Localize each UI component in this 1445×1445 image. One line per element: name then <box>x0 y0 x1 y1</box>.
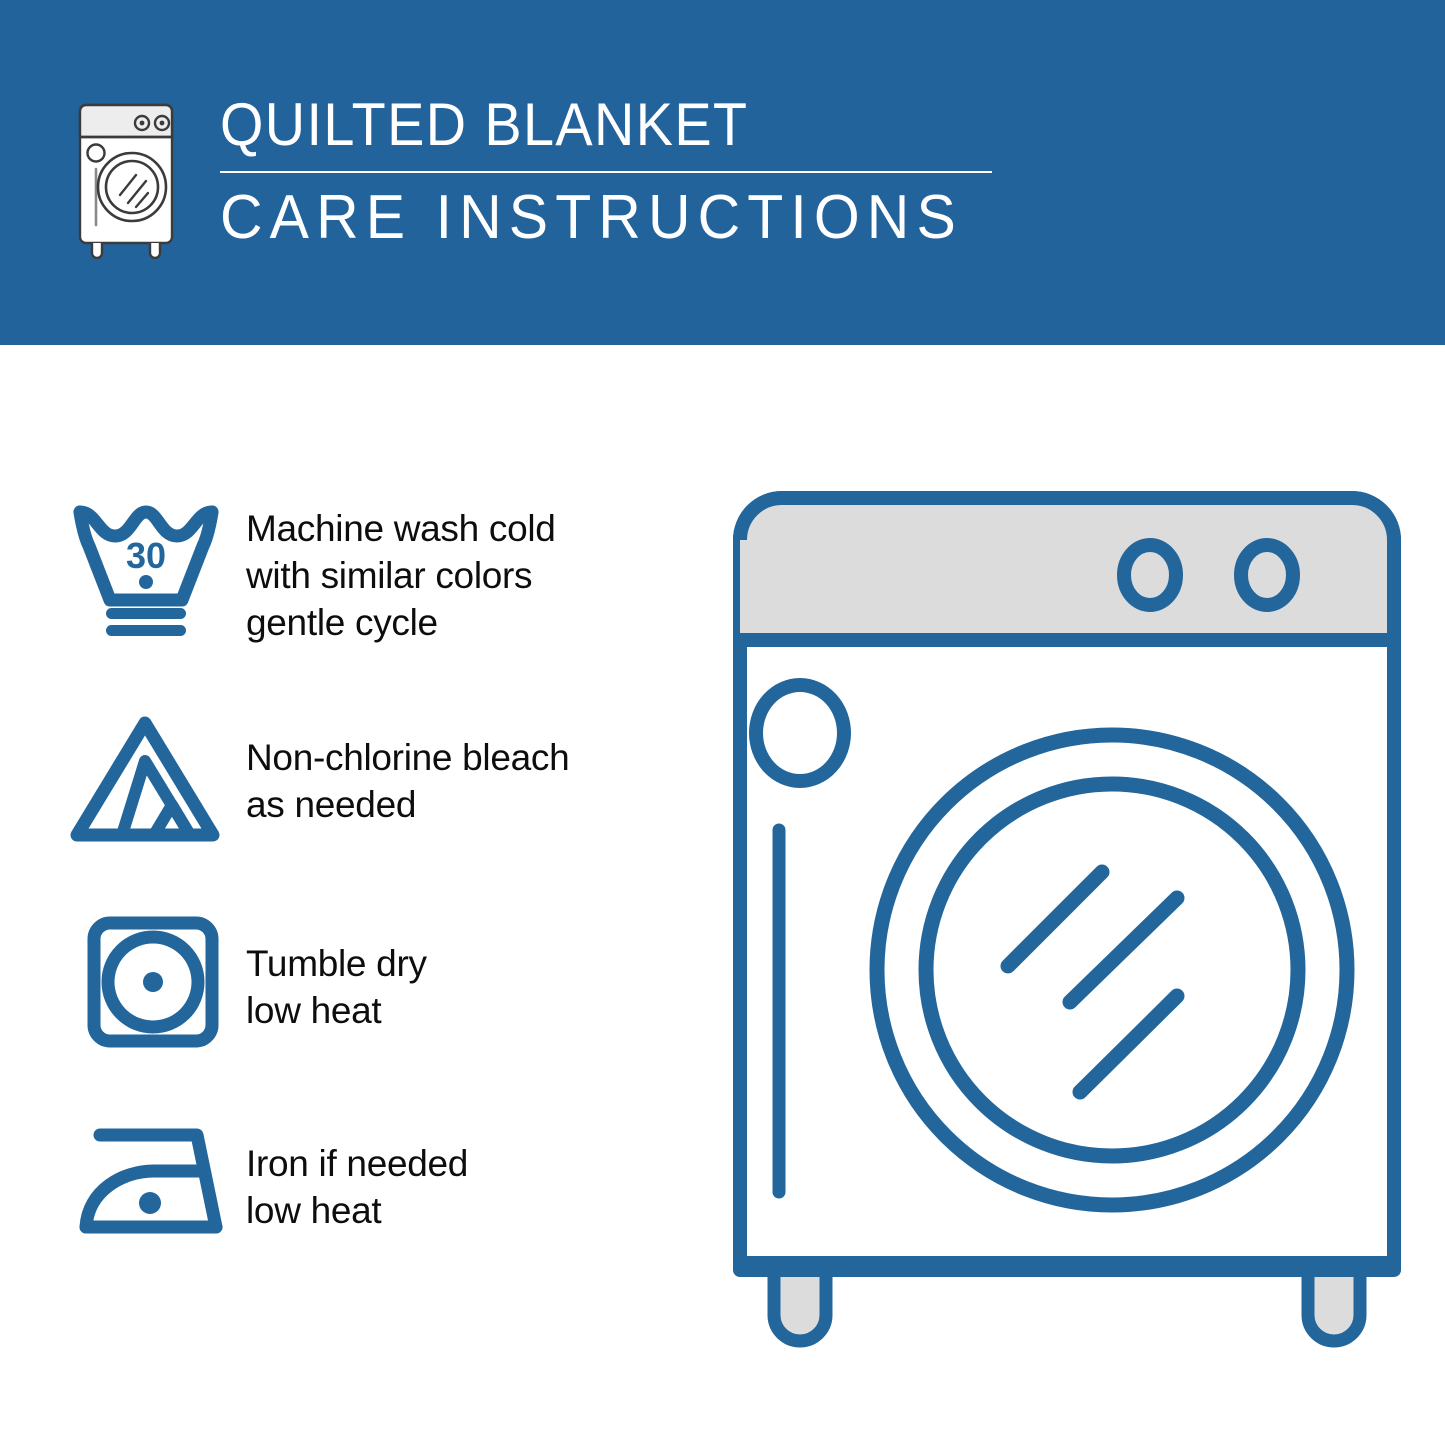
header-content: QUILTED BLANKET CARE INSTRUCTIONS <box>70 95 1002 259</box>
knob-left <box>1124 545 1176 605</box>
care-text-line: low heat <box>246 988 427 1035</box>
front-load-washing-machine-illustration <box>722 480 1412 1370</box>
title-divider <box>220 171 992 173</box>
iron-low-heat-icon <box>66 1115 246 1247</box>
page-title: QUILTED BLANKET <box>220 95 947 155</box>
list-item: 30 Machine wash cold with similar colors… <box>66 488 706 647</box>
wash-temperature-label: 30 <box>126 535 166 576</box>
care-instructions-infographic: QUILTED BLANKET CARE INSTRUCTIONS <box>0 0 1445 1445</box>
care-instruction-text: Iron if needed low heat <box>246 1115 468 1235</box>
list-item: Non-chlorine bleach as needed <box>66 709 706 849</box>
list-item: Iron if needed low heat <box>66 1115 706 1247</box>
non-chlorine-bleach-triangle-icon <box>66 709 246 849</box>
care-instruction-text: Machine wash cold with similar colors ge… <box>246 488 556 647</box>
care-instruction-text: Non-chlorine bleach as needed <box>246 709 569 829</box>
care-text-line: gentle cycle <box>246 600 556 647</box>
care-text-line: Machine wash cold <box>246 506 556 553</box>
detergent-dial <box>756 685 844 781</box>
tumble-dry-low-icon <box>66 911 246 1053</box>
care-text-line: Non-chlorine bleach <box>246 735 569 782</box>
care-instruction-list: 30 Machine wash cold with similar colors… <box>66 488 706 1247</box>
page-subtitle: CARE INSTRUCTIONS <box>220 187 963 249</box>
knob-right <box>1241 545 1293 605</box>
washing-machine-icon <box>70 99 188 259</box>
care-text-line: Tumble dry <box>246 941 427 988</box>
header-title-block: QUILTED BLANKET CARE INSTRUCTIONS <box>220 95 1002 249</box>
care-text-line: with similar colors <box>246 553 556 600</box>
list-item: Tumble dry low heat <box>66 911 706 1053</box>
care-text-line: Iron if needed <box>246 1141 468 1188</box>
care-text-line: low heat <box>246 1188 468 1235</box>
care-instruction-text: Tumble dry low heat <box>246 911 427 1035</box>
header-banner: QUILTED BLANKET CARE INSTRUCTIONS <box>0 0 1445 345</box>
wash-tub-30-icon: 30 <box>66 488 246 638</box>
care-text-line: as needed <box>246 782 569 829</box>
